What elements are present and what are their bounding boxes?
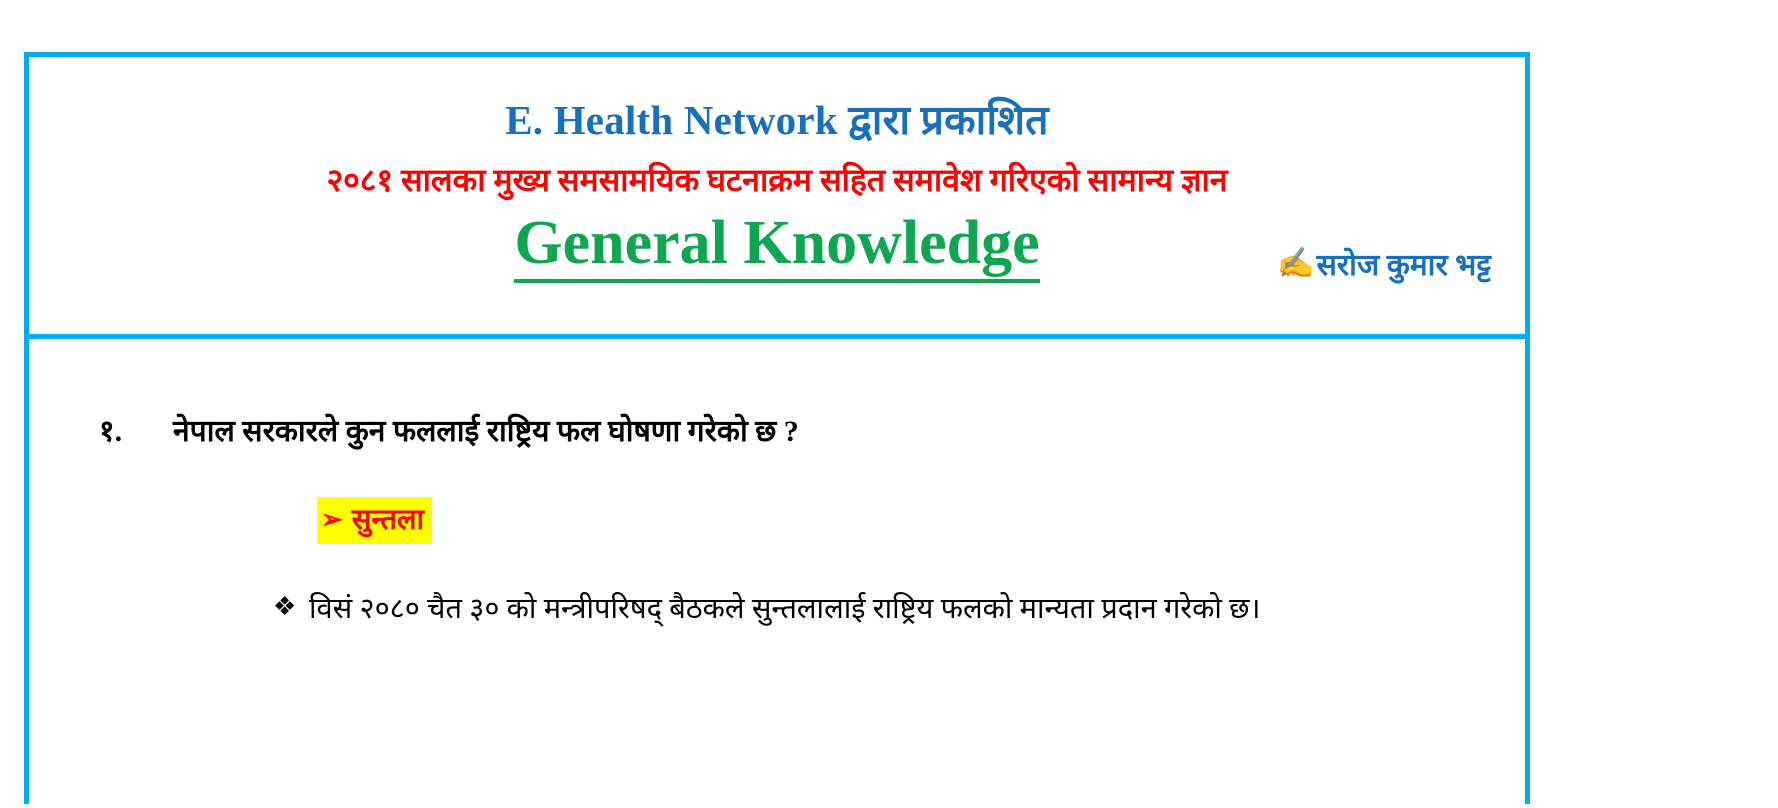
answer-text: सुन्तला <box>352 499 424 543</box>
note-row: ❖ विसं २०८० चैत ३० को मन्त्रीपरिषद् बैठक… <box>29 588 1525 630</box>
author-name: सरोज कुमार भट्ट <box>1317 243 1491 284</box>
answer-row: ➢ सुन्तला <box>29 497 1525 545</box>
arrow-bullet-icon: ➢ <box>321 507 343 533</box>
publisher-title: E. Health Network द्वारा प्रकाशित <box>29 57 1525 142</box>
main-title-row: General Knowledge ✍ सरोज कुमार भट्ट <box>29 204 1525 290</box>
question-number: १. <box>99 413 173 451</box>
subtitle-line: २०८१ सालका मुख्य समसामयिक घटनाक्रम सहित … <box>29 142 1525 198</box>
document-header: E. Health Network द्वारा प्रकाशित २०८१ स… <box>29 57 1525 339</box>
document-page: E. Health Network द्वारा प्रकाशित २०८१ स… <box>0 0 1778 808</box>
writing-hand-icon: ✍ <box>1277 249 1314 279</box>
note-text: विसं २०८० चैत ३० को मन्त्रीपरिषद् बैठकले… <box>309 588 1261 630</box>
author-byline: ✍ सरोज कुमार भट्ट <box>1277 243 1491 284</box>
question-text: नेपाल सरकारले कुन फललाई राष्ट्रिय फल घोष… <box>173 413 799 451</box>
diamond-bullet-icon: ❖ <box>273 588 309 626</box>
question-row: १. नेपाल सरकारले कुन फललाई राष्ट्रिय फल … <box>29 339 1525 451</box>
answer-highlight: ➢ सुन्तला <box>317 497 432 545</box>
main-title-text: General Knowledge <box>514 209 1039 283</box>
document-frame: E. Health Network द्वारा प्रकाशित २०८१ स… <box>24 52 1530 804</box>
document-body: १. नेपाल सरकारले कुन फललाई राष्ट्रिय फल … <box>29 339 1525 630</box>
